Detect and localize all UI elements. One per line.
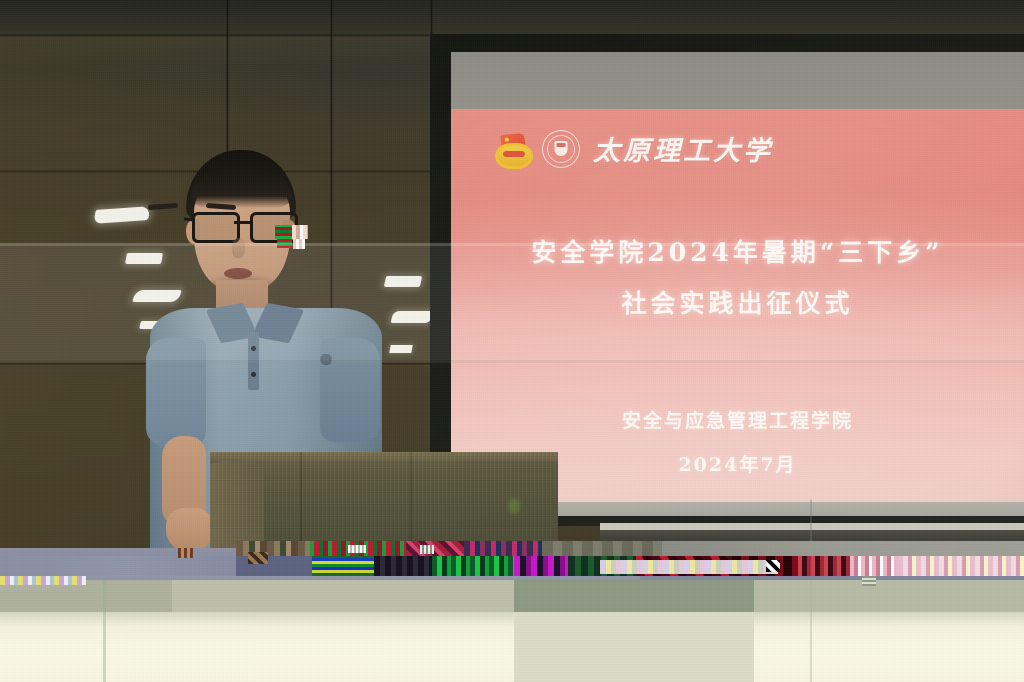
- glasses-temple: [184, 217, 194, 221]
- floor-tile: [754, 580, 1024, 612]
- floor-tile: [172, 580, 514, 612]
- seal-shield-shape: [555, 141, 568, 156]
- hand-left: [166, 508, 212, 552]
- projection-screen-surface: 太原理工大学 安全学院2024年暑期“三下乡” 社会实践出征仪式 安全与应急管理…: [451, 52, 1024, 516]
- shirt-button: [251, 372, 256, 377]
- floor-seam: [810, 500, 812, 550]
- slide-title-line-1: 安全学院2024年暑期“三下乡”: [451, 227, 1024, 278]
- emblem-ring-shape: [495, 143, 533, 169]
- photograph: 太原理工大学 安全学院2024年暑期“三下乡” 社会实践出征仪式 安全与应急管理…: [0, 0, 1024, 682]
- shirt-button: [251, 346, 256, 351]
- floor-seam: [810, 580, 812, 682]
- floor-seam: [103, 580, 106, 682]
- glasses-icon: [190, 212, 296, 238]
- floor-tile: [514, 612, 754, 682]
- lectern-wood-grain: [210, 452, 558, 552]
- slide-subtitle-organization: 安全与应急管理工程学院: [451, 399, 1024, 443]
- light-reflection: [391, 311, 434, 323]
- wall-upper-shadow: [0, 0, 1024, 36]
- lectern-green-speck: [508, 498, 520, 514]
- sleeve-left: [146, 338, 206, 446]
- shirt-chest-logo: [318, 354, 334, 372]
- slide-header: 太原理工大学: [495, 129, 773, 168]
- university-name-text: 太原理工大学: [593, 129, 773, 168]
- glasses-lens-left: [192, 212, 240, 243]
- slide-title-block: 安全学院2024年暑期“三下乡” 社会实践出征仪式: [451, 227, 1024, 329]
- communist-youth-league-emblem-icon: [495, 134, 529, 164]
- wall-seam-vertical: [430, 0, 433, 36]
- stage-rail-shadow: [600, 530, 1024, 542]
- floor-tile: [514, 580, 754, 612]
- presentation-slide: 太原理工大学 安全学院2024年暑期“三下乡” 社会实践出征仪式 安全与应急管理…: [451, 109, 1024, 502]
- slide-title-line-2: 社会实践出征仪式: [451, 278, 1024, 329]
- lectern-panel-seam: [410, 452, 412, 552]
- shirt-placket: [248, 332, 259, 390]
- lectern-panel-seam: [300, 452, 302, 552]
- light-reflection: [389, 345, 412, 353]
- nose: [232, 238, 245, 258]
- eyebrow-left: [148, 203, 178, 210]
- seal-inner-ring: [547, 135, 575, 163]
- university-seal-icon: [542, 130, 580, 168]
- glasses-bridge: [234, 221, 252, 224]
- floor-tile: [0, 580, 172, 612]
- glasses-lens-right: [250, 212, 298, 243]
